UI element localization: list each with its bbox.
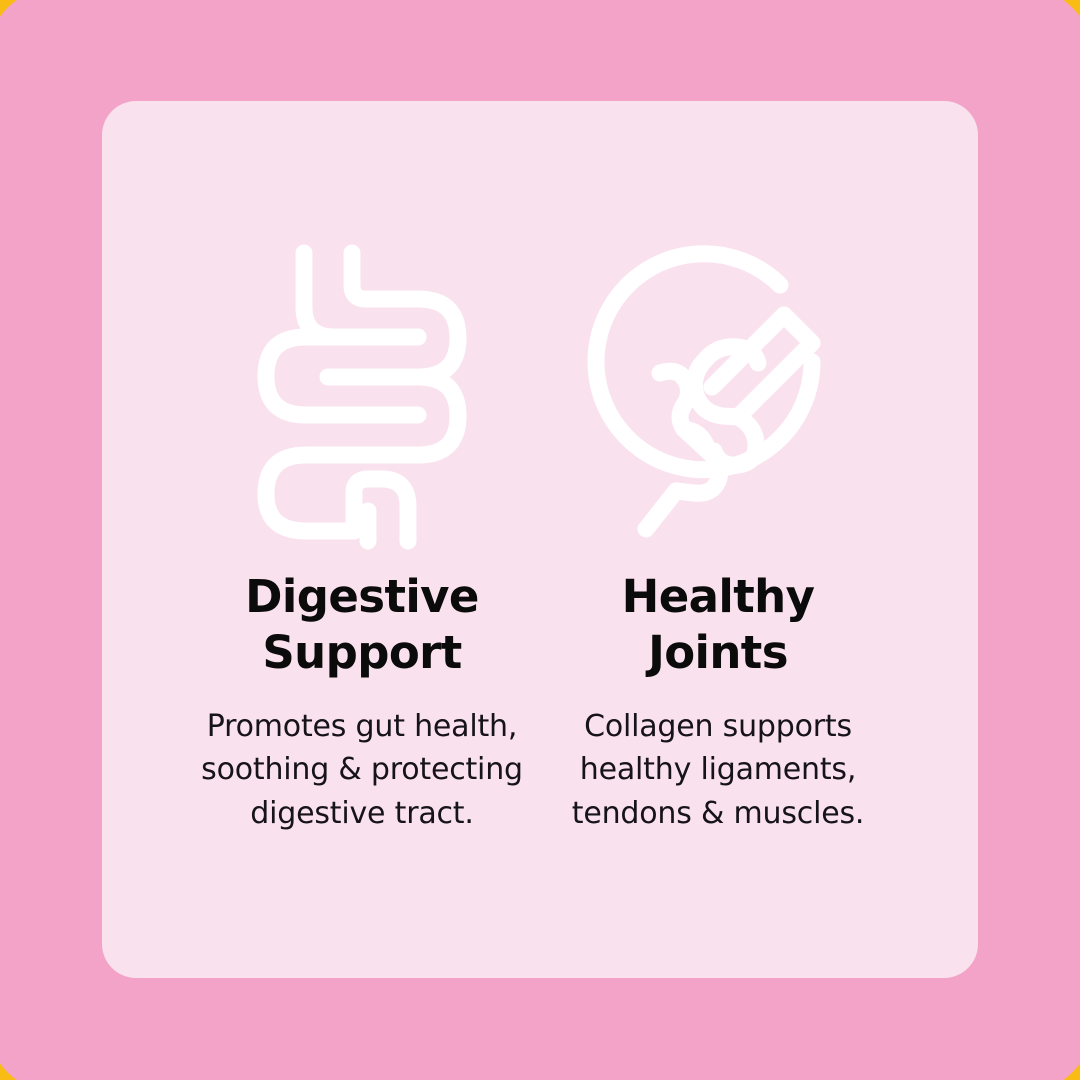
feature-desc-line3: digestive tract. <box>201 792 523 836</box>
feature-title-line1: Healthy <box>622 569 815 625</box>
feature-healthy-joints: Healthy Joints Collagen supports healthy… <box>540 241 896 836</box>
feature-desc-line1: Promotes gut health, <box>201 705 523 749</box>
feature-desc-line2: healthy ligaments, <box>572 748 864 792</box>
intestine-icon <box>222 241 502 541</box>
feature-title: Healthy Joints <box>622 569 815 681</box>
feature-desc-line1: Collagen supports <box>572 705 864 749</box>
feature-description: Promotes gut health, soothing & protecti… <box>201 705 523 836</box>
feature-title-line2: Support <box>245 625 479 681</box>
feature-columns: Digestive Support Promotes gut health, s… <box>102 101 978 978</box>
poster-canvas: Digestive Support Promotes gut health, s… <box>0 0 1080 1080</box>
benefits-card: Digestive Support Promotes gut health, s… <box>102 101 978 978</box>
feature-title-line2: Joints <box>622 625 815 681</box>
knee-joint-icon <box>578 241 858 541</box>
feature-description: Collagen supports healthy ligaments, ten… <box>572 705 864 836</box>
feature-desc-line3: tendons & muscles. <box>572 792 864 836</box>
feature-digestive-support: Digestive Support Promotes gut health, s… <box>184 241 540 836</box>
feature-title: Digestive Support <box>245 569 479 681</box>
feature-desc-line2: soothing & protecting <box>201 748 523 792</box>
feature-title-line1: Digestive <box>245 569 479 625</box>
